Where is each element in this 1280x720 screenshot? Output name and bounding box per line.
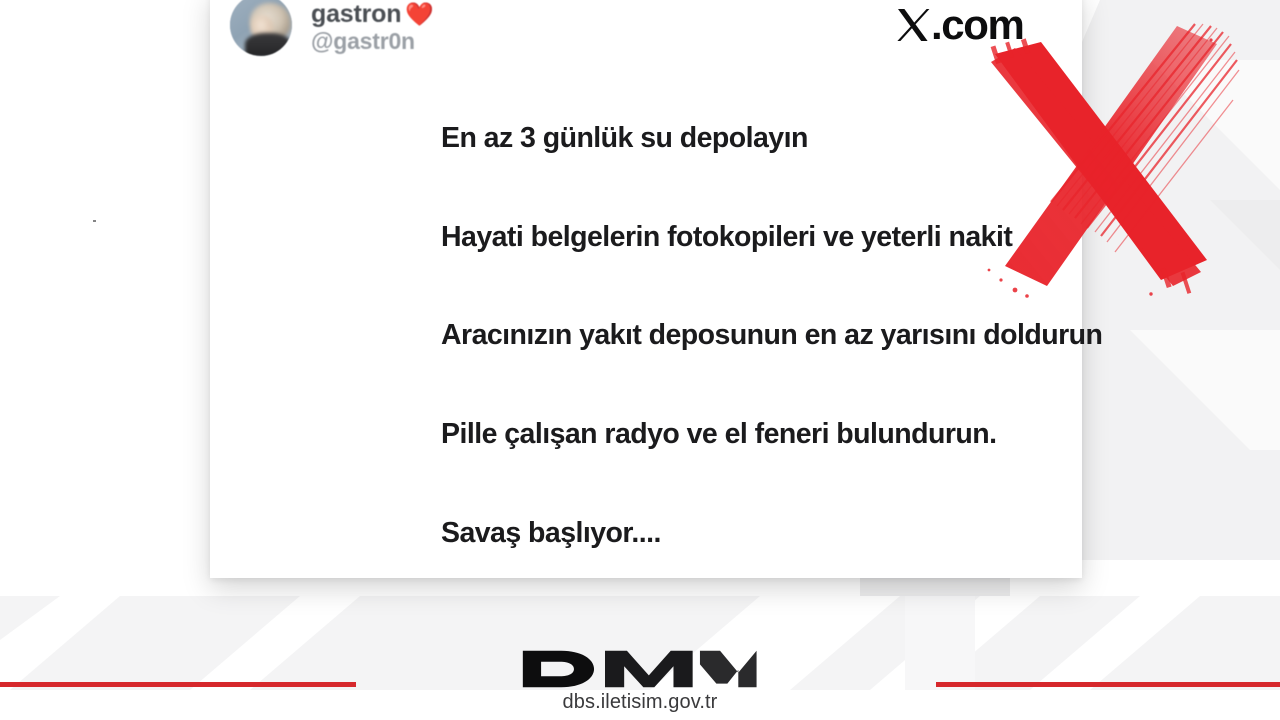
footer-brand: dbs.iletisim.gov.tr — [0, 648, 1280, 714]
xcom-logo: .com — [896, 4, 1023, 46]
tweet-line-5: Savaş başlıyor.... — [441, 517, 1271, 551]
dmm-logo-icon — [521, 648, 758, 690]
image-speck-artifact — [93, 220, 96, 222]
dmm-url: dbs.iletisim.gov.tr — [563, 691, 718, 714]
screenshot-root: gastron ❤️ @gastr0n En az 3 günlük su de… — [0, 0, 1280, 720]
tweet-header: gastron ❤️ @gastr0n — [230, 0, 434, 56]
tweet-line-2: Hayati belgelerin fotokopileri ve yeterl… — [441, 221, 1271, 255]
xcom-suffix: .com — [931, 4, 1023, 46]
avatar — [230, 0, 292, 56]
display-name: gastron — [311, 1, 401, 27]
profile-handle: @gastr0n — [311, 28, 434, 54]
tweet-line-3: Aracınızın yakıt deposunun en az yarısın… — [441, 319, 1271, 353]
tweet-line-1: En az 3 günlük su depolayın — [441, 122, 1271, 156]
x-logo-icon — [896, 7, 930, 43]
tweet-card: gastron ❤️ @gastr0n En az 3 günlük su de… — [210, 0, 1082, 578]
red-heart-emoji: ❤️ — [405, 3, 433, 26]
avatar-body — [245, 33, 291, 56]
profile-names: gastron ❤️ @gastr0n — [311, 0, 434, 55]
tweet-line-4: Pille çalışan radyo ve el feneri bulundu… — [441, 418, 1271, 452]
tweet-text-body: En az 3 günlük su depolayın Hayati belge… — [441, 122, 1271, 550]
display-name-row: gastron ❤️ — [311, 1, 434, 27]
